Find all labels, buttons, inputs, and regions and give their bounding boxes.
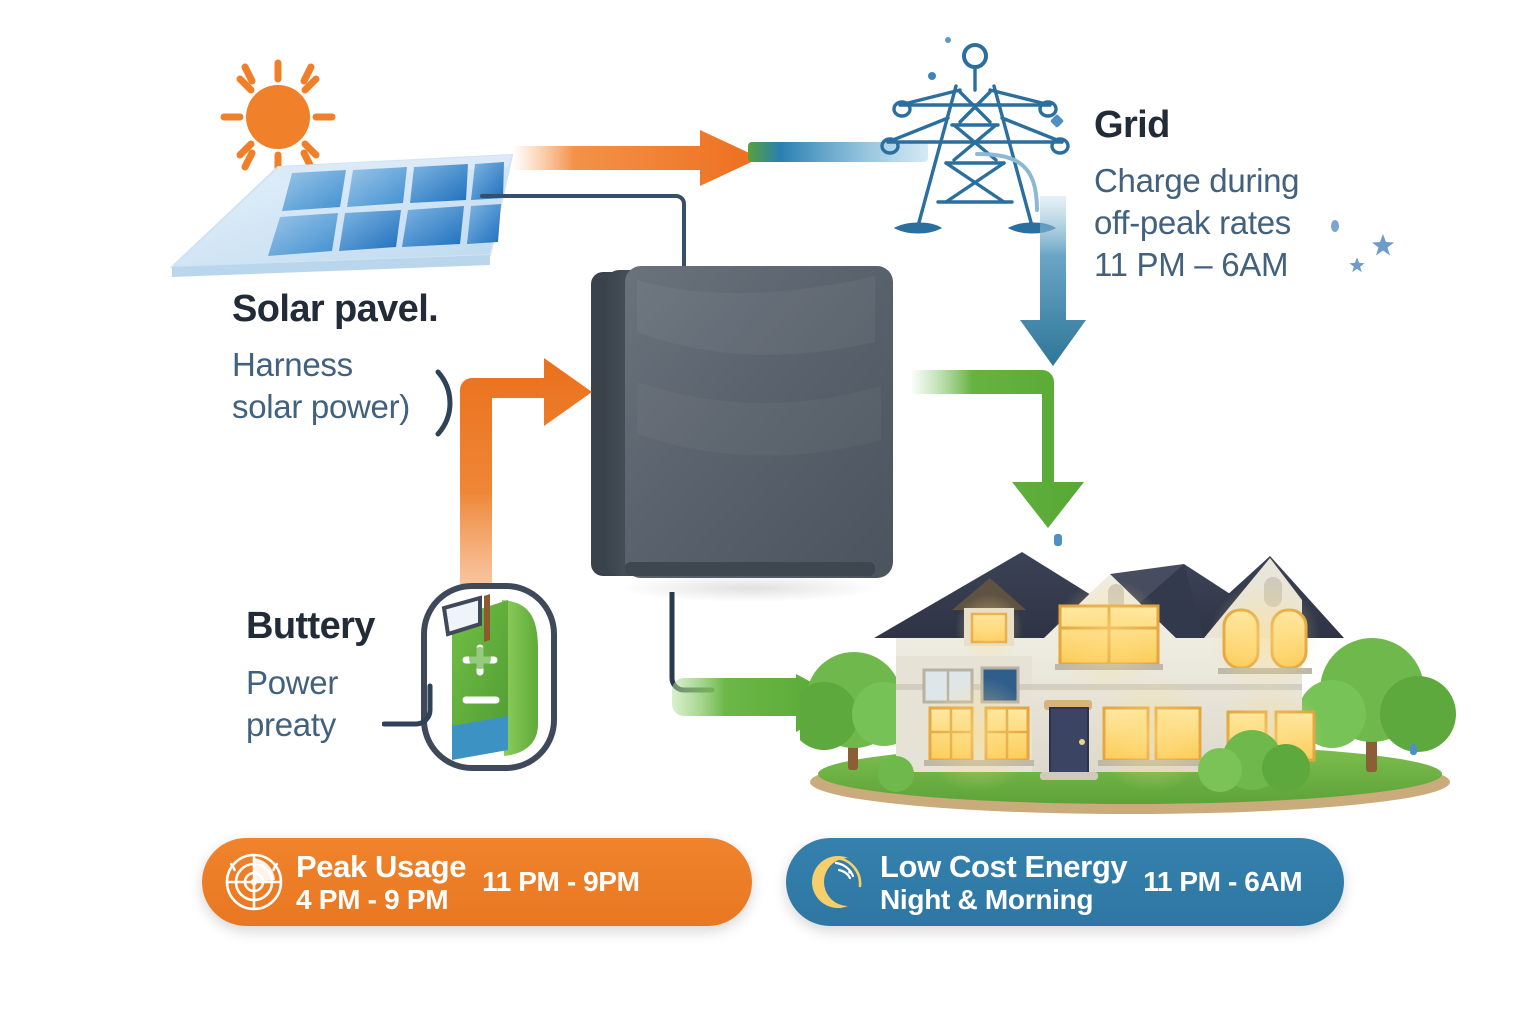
solar-desc-line1: Harness [232,344,410,386]
solar-heading: Solar pavel. [232,290,438,330]
battery-cell-illustration [418,578,560,783]
low-cost-subtitle: Night & Morning [880,886,1127,914]
legend-peak-usage[interactable]: Peak Usage 4 PM - 9 PM 11 PM - 9PM [202,838,752,926]
solar-panel-icon [172,155,512,277]
arrow-grid-down [1018,196,1088,368]
legend-low-cost-energy[interactable]: Low Cost Energy Night & Morning 11 PM - … [786,838,1344,926]
grid-desc-line1: Charge during [1094,160,1299,202]
peak-usage-time: 11 PM - 9PM [482,866,639,898]
arrow-battery-to-unit [448,350,598,600]
battery-heading: Buttery [246,607,375,647]
low-cost-text: Low Cost Energy Night & Morning [880,851,1127,914]
gauge-icon [222,850,286,914]
solar-description: Harness solar power) [232,344,410,428]
infographic-canvas: Solar pavel. Harness solar power) [0,0,1536,1024]
sparkle-dot [1331,220,1339,232]
house-illustration [800,528,1460,823]
battery-desc-line2: preaty [246,704,338,746]
arrow-unit-to-house-upper [912,366,1092,531]
tower-to-arrow-connector [975,148,1065,218]
solar-desc-line2: solar power) [232,386,410,428]
sun-icon [224,63,332,171]
star-icon [1348,256,1366,274]
low-cost-title: Low Cost Energy [880,851,1127,882]
peak-usage-subtitle: 4 PM - 9 PM [296,886,466,914]
peak-usage-text: Peak Usage 4 PM - 9 PM [296,851,466,914]
star-icon [1370,232,1396,258]
arrow-solar-to-grid [512,128,762,188]
low-cost-time: 11 PM - 6AM [1143,866,1302,898]
grid-desc-line3: 11 PM – 6AM [1094,244,1299,286]
peak-usage-title: Peak Usage [296,851,466,882]
battery-label-connector [382,682,442,732]
battery-description: Power preaty [246,662,338,746]
battery-desc-line1: Power [246,662,338,704]
grid-desc-line2: off-peak rates [1094,202,1299,244]
house-icon [800,528,1460,818]
battery-cell-icon [418,578,560,778]
solar-label-connector [432,368,462,438]
crescent-moon-icon [806,850,870,914]
grid-description: Charge during off-peak rates 11 PM – 6AM [1094,160,1299,287]
grid-heading: Grid [1094,106,1170,146]
